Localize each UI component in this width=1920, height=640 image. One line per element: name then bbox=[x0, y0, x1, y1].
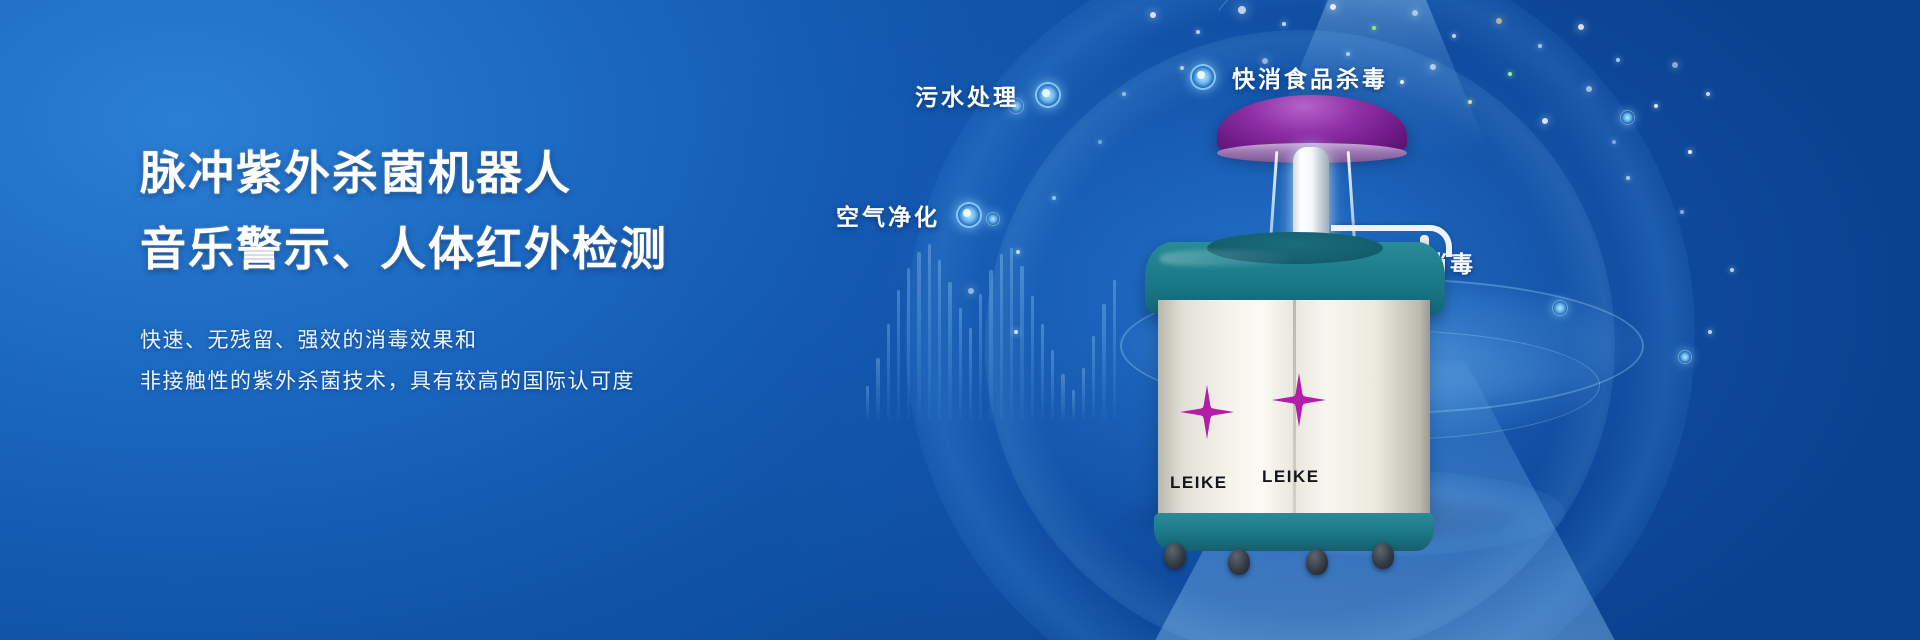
sparkle-star-icon bbox=[1272, 373, 1326, 427]
feature-text: 污水处理 bbox=[915, 78, 1019, 112]
product-device-illustration: LEIKE LEIKE bbox=[1120, 95, 1500, 515]
caster-wheel-icon bbox=[1372, 543, 1394, 569]
description-line-2: 非接触性的紫外杀菌技术，具有较高的国际认可度 bbox=[140, 361, 880, 402]
feature-label-wastewater: 污水处理 bbox=[915, 78, 1061, 112]
sparkle-star-icon bbox=[1180, 385, 1234, 439]
feature-text: 空气净化 bbox=[836, 198, 940, 232]
sound-waveform-icon bbox=[866, 235, 1116, 420]
caster-wheel-icon bbox=[1164, 543, 1186, 569]
brand-logo-text: LEIKE bbox=[1262, 467, 1320, 487]
cap-highlight bbox=[1160, 250, 1290, 266]
uv-lamp-tube bbox=[1293, 147, 1329, 242]
feature-text: 快消食品杀毒 bbox=[1232, 60, 1388, 94]
caster-wheel-icon bbox=[1306, 549, 1328, 575]
hero-copy-block: 脉冲紫外杀菌机器人 音乐警示、人体红外检测 快速、无残留、强效的消毒效果和 非接… bbox=[140, 150, 880, 402]
description-line-1: 快速、无残留、强效的消毒效果和 bbox=[140, 320, 880, 361]
device-base bbox=[1154, 513, 1434, 551]
brand-logo-text: LEIKE bbox=[1170, 473, 1228, 493]
product-hero-banner: 脉冲紫外杀菌机器人 音乐警示、人体红外检测 快速、无残留、强效的消毒效果和 非接… bbox=[0, 0, 1920, 640]
page-title: 脉冲紫外杀菌机器人 bbox=[140, 150, 880, 196]
caster-wheel-icon bbox=[1228, 549, 1250, 575]
node-dot-icon bbox=[1035, 82, 1061, 108]
feature-label-air: 空气净化 bbox=[836, 198, 982, 232]
page-subtitle: 音乐警示、人体红外检测 bbox=[140, 226, 880, 272]
node-dot-icon bbox=[1190, 64, 1216, 90]
feature-label-food: 快消食品杀毒 bbox=[1190, 60, 1388, 94]
node-dot-icon bbox=[956, 202, 982, 228]
